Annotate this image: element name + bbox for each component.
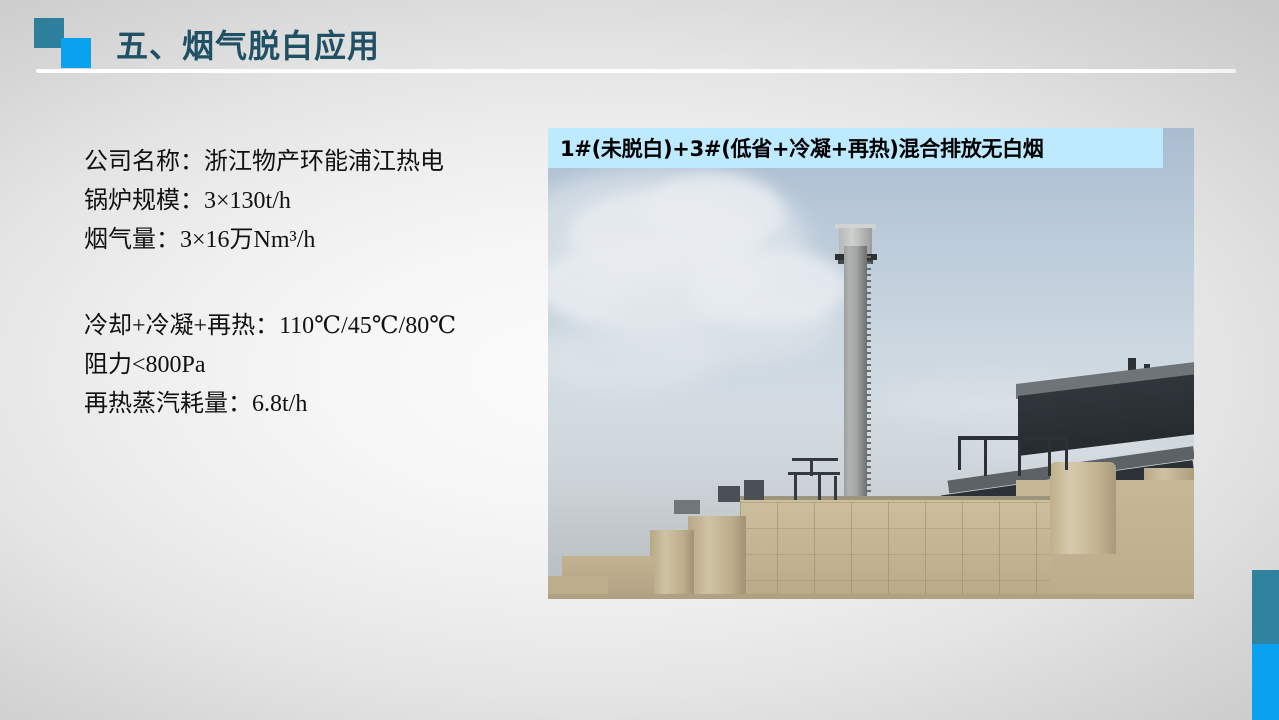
spec-line-resistance: 阻力<800Pa — [84, 346, 514, 385]
decorative-square-bright — [61, 38, 91, 68]
roof-equipment-box — [744, 480, 764, 500]
roof-equipment-box — [674, 500, 700, 514]
accent-bar-bottom-segment — [1252, 644, 1279, 720]
spec-line-boiler-scale: 锅炉规模：3×130t/h — [84, 182, 514, 221]
plant-photograph — [548, 128, 1194, 599]
photo-block: 1#(未脱白)+3#(低省+冷凝+再热)混合排放无白烟 — [548, 128, 1194, 599]
building-panel-grid — [740, 502, 1050, 599]
gantry-leg — [984, 440, 987, 476]
spec-group-process: 冷却+冷凝+再热：110℃/45℃/80℃ 阻力<800Pa 再热蒸汽耗量：6.… — [84, 307, 514, 424]
crane-leg — [834, 476, 837, 500]
gantry-leg — [1018, 440, 1021, 476]
photo-caption-bar: 1#(未脱白)+3#(低省+冷凝+再热)混合排放无白烟 — [548, 128, 1163, 168]
crane-leg — [818, 474, 821, 500]
cloud-shape — [688, 248, 848, 326]
accent-bar-top-segment — [1252, 570, 1279, 644]
gantry-leg — [1048, 440, 1051, 476]
spec-group-plant: 公司名称：浙江物产环能浦江热电 锅炉规模：3×130t/h 烟气量：3×16万N… — [84, 143, 514, 260]
photo-caption-text: 1#(未脱白)+3#(低省+冷凝+再热)混合排放无白烟 — [560, 133, 1044, 163]
spec-text-column: 公司名称：浙江物产环能浦江热电 锅炉规模：3×130t/h 烟气量：3×16万N… — [84, 143, 514, 424]
roof-crane-arm — [792, 458, 838, 461]
cloud-shape — [548, 324, 718, 394]
text-group-spacer — [84, 260, 514, 307]
page-title: 五、烟气脱白应用 — [116, 21, 380, 67]
roof-gantry — [958, 436, 1068, 470]
roof-equipment-box — [718, 486, 740, 502]
title-divider-rule — [36, 69, 1236, 73]
spec-line-flue-gas-volume: 烟气量：3×16万Nm³/h — [84, 221, 514, 260]
storage-silo — [650, 530, 694, 599]
spec-line-steam-consumption: 再热蒸汽耗量：6.8t/h — [84, 385, 514, 424]
crane-leg — [794, 474, 797, 500]
ground-strip — [548, 594, 1194, 599]
spec-line-company: 公司名称：浙江物产环能浦江热电 — [84, 143, 514, 182]
slide-header: 五、烟气脱白应用 — [0, 0, 1279, 92]
storage-silo — [688, 516, 746, 599]
slide-canvas: 五、烟气脱白应用 公司名称：浙江物产环能浦江热电 锅炉规模：3×130t/h 烟… — [0, 0, 1279, 720]
storage-silo — [1050, 462, 1116, 554]
decorative-square-dark — [34, 18, 64, 48]
spec-line-temperatures: 冷却+冷凝+再热：110℃/45℃/80℃ — [84, 307, 514, 346]
accent-bar — [1252, 570, 1279, 720]
